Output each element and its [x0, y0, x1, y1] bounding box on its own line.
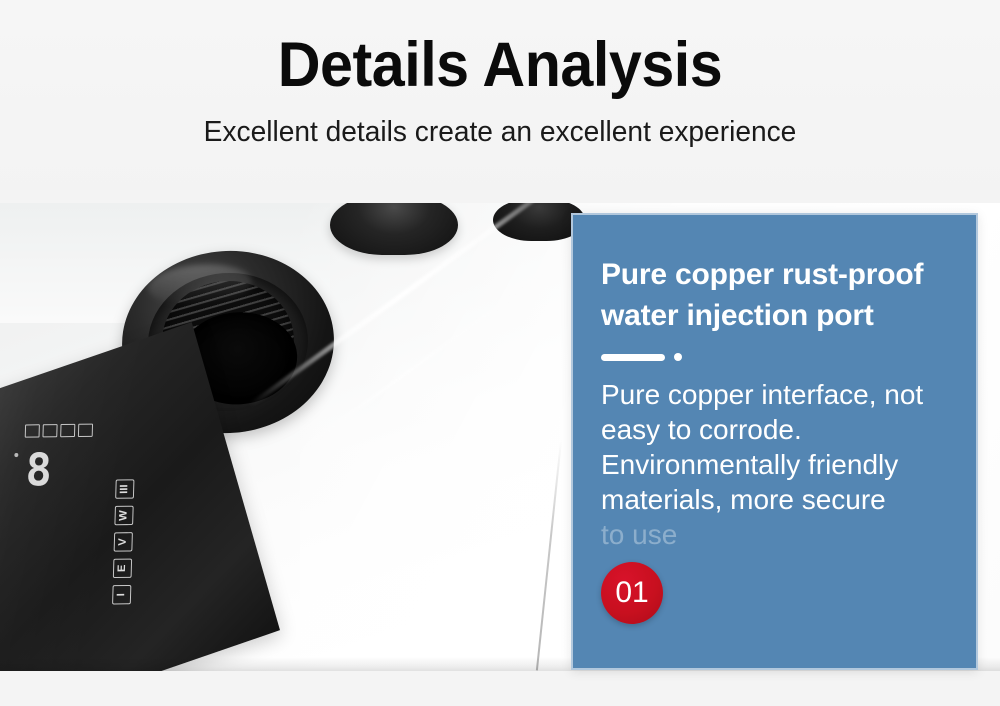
seven-segment-display: 8 [19, 423, 116, 512]
control-indicator-row: I E V W III [112, 479, 134, 604]
heading-divider [601, 353, 976, 361]
feature-description: Pure copper interface, not easy to corro… [573, 361, 976, 517]
divider-dot-icon [674, 353, 682, 361]
feature-heading: Pure copper rust-proof water injection p… [573, 215, 976, 336]
page-header: Details Analysis Excellent details creat… [0, 0, 1000, 200]
step-number-badge: 01 [601, 562, 663, 624]
display-top-segments [25, 424, 93, 438]
segment-chip [25, 424, 40, 437]
feature-description-continued: to use [573, 517, 976, 552]
details-analysis-page: Details Analysis Excellent details creat… [0, 0, 1000, 706]
divider-bar [601, 354, 665, 361]
secondary-port-icon [330, 203, 458, 255]
display-value: 8 [25, 449, 49, 494]
indicator-chip: E [113, 559, 132, 579]
segment-chip [78, 424, 93, 437]
indicator-chip: I [112, 585, 131, 605]
segment-chip [42, 424, 57, 437]
page-subtitle: Excellent details create an excellent ex… [15, 103, 985, 150]
indicator-chip: V [114, 532, 133, 552]
page-title: Details Analysis [30, 0, 970, 103]
indicator-chip: W [114, 506, 133, 526]
segment-chip [60, 424, 75, 437]
indicator-chip: III [115, 479, 134, 499]
feature-info-panel: Pure copper rust-proof water injection p… [571, 213, 978, 670]
